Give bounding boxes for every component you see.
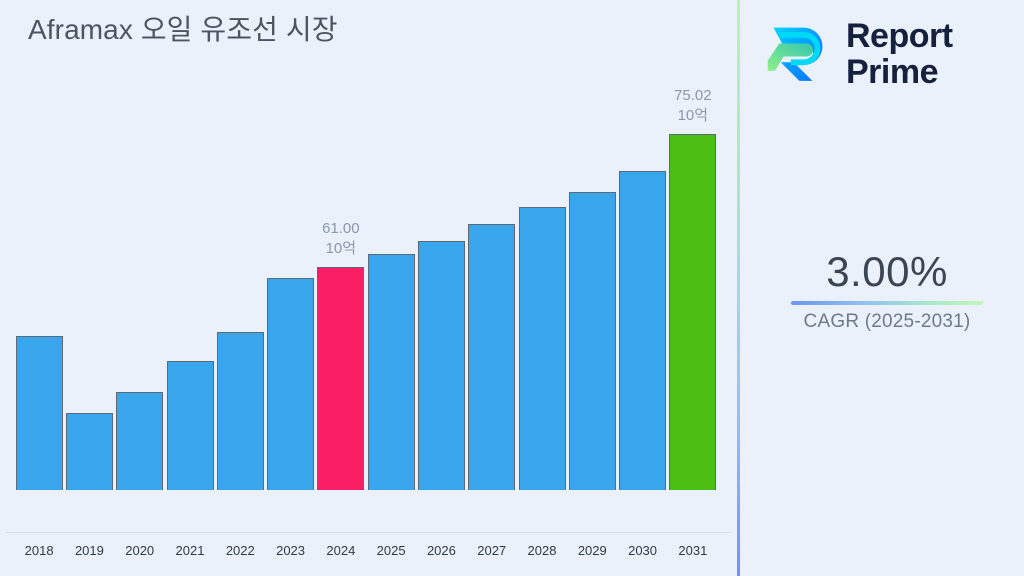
- bar-rect-2018[interactable]: [16, 336, 63, 490]
- bar-value-label-2024: 61.0010억: [322, 219, 360, 259]
- bar-chart-plot-area: 20182019202020212022202361.0010억20242025…: [0, 0, 738, 534]
- chart-screenshot: Aframax 오일 유조선 시장 2018201920202021202220…: [0, 0, 1024, 576]
- bar-rect-2026[interactable]: [418, 241, 465, 490]
- bar-rect-2022[interactable]: [217, 332, 264, 490]
- cagr-value: 3.00%: [762, 248, 1012, 295]
- bar-2029[interactable]: [569, 0, 616, 490]
- report-prime-r-logo-icon: [762, 19, 834, 91]
- brand-name-line2: Prime: [846, 55, 953, 91]
- bar-value-label-2031: 75.0210억: [674, 86, 712, 126]
- bar-value-unit: 10억: [322, 239, 360, 259]
- bar-value-unit: 10억: [674, 106, 712, 126]
- bar-rect-2024[interactable]: [317, 267, 364, 490]
- bar-2028[interactable]: [519, 0, 566, 490]
- bar-value-number: 61.00: [322, 219, 360, 239]
- bar-rect-2028[interactable]: [519, 207, 566, 490]
- brand-wordmark: Report Prime: [846, 19, 953, 90]
- bar-rect-2019[interactable]: [66, 413, 113, 490]
- bar-2021[interactable]: [167, 0, 214, 490]
- bar-rect-2020[interactable]: [116, 392, 163, 490]
- bar-2018[interactable]: [16, 0, 63, 490]
- bar-2019[interactable]: [66, 0, 113, 490]
- bar-2031[interactable]: 75.0210억: [669, 0, 716, 490]
- brand-name-line1: Report: [846, 19, 953, 55]
- bar-rect-2021[interactable]: [167, 361, 214, 490]
- bar-rect-2025[interactable]: [368, 254, 415, 490]
- bar-2025[interactable]: [368, 0, 415, 490]
- cagr-divider-rule: [791, 301, 983, 305]
- bar-rect-2030[interactable]: [619, 171, 666, 490]
- bar-rect-2031[interactable]: [669, 134, 716, 490]
- bar-2026[interactable]: [418, 0, 465, 490]
- bar-rect-2023[interactable]: [267, 278, 314, 490]
- bar-2030[interactable]: [619, 0, 666, 490]
- bar-2027[interactable]: [468, 0, 515, 490]
- bar-2024[interactable]: 61.0010억: [317, 0, 364, 490]
- cagr-caption: CAGR (2025-2031): [762, 311, 1012, 333]
- bar-2023[interactable]: [267, 0, 314, 490]
- brand-panel: Report Prime 3.00% CAGR (2025-2031): [740, 0, 1024, 576]
- bar-2020[interactable]: [116, 0, 163, 490]
- x-axis-baseline: [6, 532, 732, 533]
- bar-2022[interactable]: [217, 0, 264, 490]
- chart-panel: Aframax 오일 유조선 시장 2018201920202021202220…: [0, 0, 738, 576]
- bar-rect-2027[interactable]: [468, 224, 515, 490]
- x-axis-tick-2031: 2031: [663, 543, 722, 558]
- cagr-block: 3.00% CAGR (2025-2031): [762, 248, 1012, 333]
- bar-value-number: 75.02: [674, 86, 712, 106]
- logo: Report Prime: [762, 14, 1012, 96]
- bar-rect-2029[interactable]: [569, 192, 616, 490]
